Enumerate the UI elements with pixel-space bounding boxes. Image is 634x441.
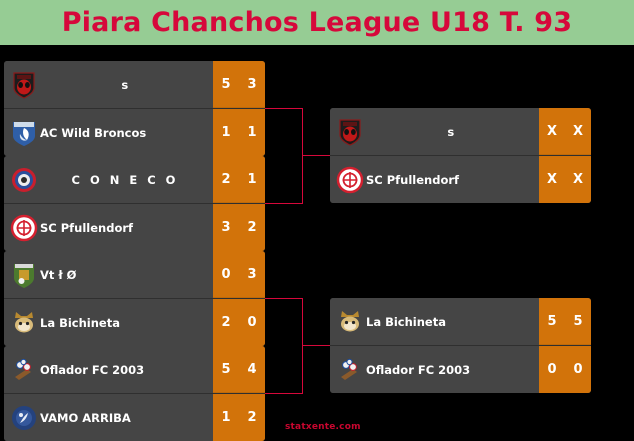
vamo-arriba-circle-crest-icon	[9, 403, 39, 433]
team-row[interactable]: Oflador FC 2003 0 0	[330, 346, 591, 393]
score-cell: 3 2	[213, 204, 265, 251]
oflador-ball-crest-icon	[335, 355, 365, 385]
team-row[interactable]: C O N E C O 2 1	[4, 156, 265, 204]
page-title: Piara Chanchos League U18 T. 93	[62, 7, 573, 38]
bracket-connector-line	[302, 345, 330, 346]
score-cell: 0 3	[213, 251, 265, 298]
team-row[interactable]: Oflador FC 2003 5 4	[4, 346, 265, 394]
blue-shield-crest-icon	[9, 118, 39, 148]
match-card[interactable]: Vt ł Ø 0 3 La Bichineta 2 0	[4, 251, 265, 346]
score-leg1: X	[539, 124, 565, 139]
team-row[interactable]: s X X	[330, 108, 591, 156]
score-leg1: 0	[213, 267, 239, 282]
score-leg1: 5	[213, 362, 239, 377]
score-leg2: 3	[239, 77, 265, 92]
score-cell: 5 5	[539, 298, 591, 345]
score-leg1: 2	[213, 315, 239, 330]
score-cell: 0 0	[539, 346, 591, 393]
match-card[interactable]: s 5 3 AC Wild Broncos 1 1	[4, 61, 265, 156]
match-card[interactable]: s X X SC Pfullendorf X X	[330, 108, 591, 203]
score-leg2: X	[565, 124, 591, 139]
deadpool-shield-crest-icon	[335, 117, 365, 147]
team-row[interactable]: SC Pfullendorf 3 2	[4, 204, 265, 251]
bichineta-cat-crest-icon	[335, 307, 365, 337]
score-leg2: X	[565, 172, 591, 187]
score-leg1: 5	[539, 314, 565, 329]
bracket-connector-line	[265, 203, 302, 204]
score-leg1: 2	[213, 172, 239, 187]
score-cell: 2 1	[213, 156, 265, 203]
bracket-connector-line	[265, 108, 302, 109]
score-leg1: 0	[539, 362, 565, 377]
score-cell: 1 2	[213, 394, 265, 441]
team-row[interactable]: La Bichineta 2 0	[4, 299, 265, 346]
score-leg2: 4	[239, 362, 265, 377]
score-leg1: X	[539, 172, 565, 187]
score-leg1: 3	[213, 220, 239, 235]
bracket-board: s 5 3 AC Wild Broncos 1 1	[0, 45, 634, 440]
bichineta-cat-crest-icon	[9, 308, 39, 338]
bracket-connector-line	[302, 155, 330, 156]
bracket-connector-line	[265, 393, 302, 394]
bracket-connector-line	[302, 108, 303, 204]
score-leg2: 1	[239, 172, 265, 187]
score-leg2: 5	[565, 314, 591, 329]
score-leg2: 0	[239, 315, 265, 330]
match-card[interactable]: C O N E C O 2 1 SC Pfullendorf 3 2	[4, 156, 265, 251]
score-cell: X X	[539, 156, 591, 203]
score-cell: X X	[539, 108, 591, 155]
score-cell: 5 3	[213, 61, 265, 108]
pfullendorf-circle-crest-icon	[9, 213, 39, 243]
score-leg2: 2	[239, 410, 265, 425]
pfullendorf-circle-crest-icon	[335, 165, 365, 195]
score-leg1: 1	[213, 410, 239, 425]
page-header: Piara Chanchos League U18 T. 93	[0, 0, 634, 45]
score-leg2: 0	[565, 362, 591, 377]
match-card[interactable]: Oflador FC 2003 5 4 VAMO ARRIBA 1 2	[4, 346, 265, 441]
bracket-connector-line	[302, 298, 303, 394]
score-leg2: 1	[239, 125, 265, 140]
team-row[interactable]: SC Pfullendorf X X	[330, 156, 591, 203]
team-row[interactable]: La Bichineta 5 5	[330, 298, 591, 346]
match-card[interactable]: La Bichineta 5 5 Oflador FC 2003 0 0	[330, 298, 591, 393]
team-row[interactable]: AC Wild Broncos 1 1	[4, 109, 265, 156]
site-watermark: statxente.com	[285, 422, 361, 432]
score-cell: 2 0	[213, 299, 265, 346]
score-leg1: 1	[213, 125, 239, 140]
score-leg2: 3	[239, 267, 265, 282]
bracket-connector-line	[265, 298, 302, 299]
green-gold-shield-crest-icon	[9, 260, 39, 290]
team-row[interactable]: VAMO ARRIBA 1 2	[4, 394, 265, 441]
oflador-ball-crest-icon	[9, 355, 39, 385]
score-leg2: 2	[239, 220, 265, 235]
score-cell: 5 4	[213, 346, 265, 393]
deadpool-shield-crest-icon	[9, 70, 39, 100]
team-row[interactable]: Vt ł Ø 0 3	[4, 251, 265, 299]
coneco-circle-crest-icon	[9, 165, 39, 195]
team-row[interactable]: s 5 3	[4, 61, 265, 109]
score-leg1: 5	[213, 77, 239, 92]
score-cell: 1 1	[213, 109, 265, 156]
